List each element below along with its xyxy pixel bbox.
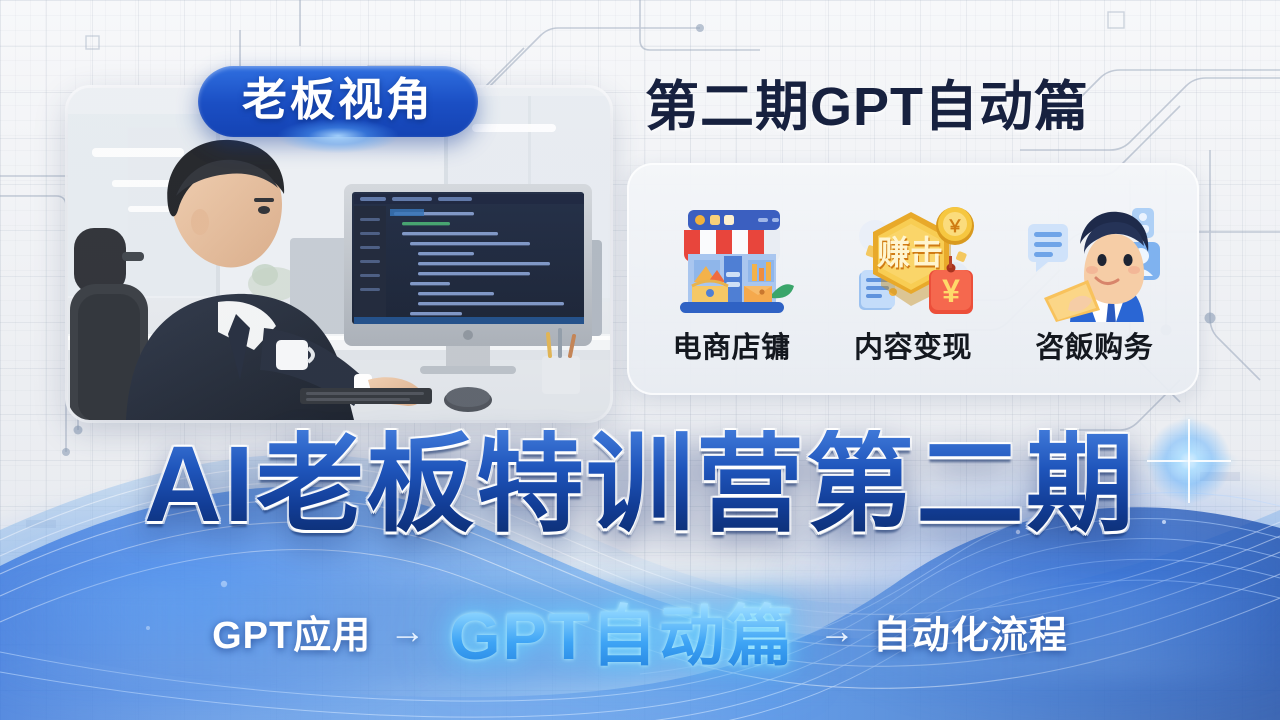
feature-item-consulting[interactable]: 咨飯购务 xyxy=(1008,194,1180,366)
feature-item-monetization[interactable]: 赚击 赚击 ￥ ¥ xyxy=(827,194,999,366)
strip-chip-automation: 自动化流程 xyxy=(873,604,1068,659)
arrow-right-icon-right: → xyxy=(819,613,855,649)
businessman-at-imac-photo xyxy=(68,88,610,420)
svg-text:￥: ￥ xyxy=(946,217,963,236)
feature-item-ecommerce[interactable]: 电商店镛 xyxy=(646,194,818,366)
strip-chip-gpt-app: GPT应用 xyxy=(212,604,371,659)
bottom-strip: GPT应用 → GPT自动篇 → 自动化流程 xyxy=(0,588,1280,674)
headline-subtitle: 第二期GPT自动篇 xyxy=(645,62,1089,141)
feature-label-consulting: 咨飯购务 xyxy=(1035,324,1153,366)
feature-card: 电商店镛 xyxy=(627,163,1199,395)
boss-view-badge[interactable]: 老板视角 xyxy=(198,66,478,137)
feature-label-ecommerce: 电商店镛 xyxy=(673,324,791,366)
storefront-icon xyxy=(664,194,800,322)
gold-hexagon-money-icon: 赚击 赚击 ￥ ¥ xyxy=(845,194,981,322)
feature-label-monetization: 内容变现 xyxy=(854,324,972,366)
arrow-right-icon-left: → xyxy=(389,613,425,649)
poster-root: 老板视角 第二期GPT自动篇 xyxy=(0,0,1280,720)
svg-text:¥: ¥ xyxy=(942,273,960,309)
consultant-person-icon xyxy=(1026,194,1162,322)
main-title: AI老板特训营第二期 xyxy=(0,430,1280,538)
svg-text:赚击: 赚击 xyxy=(877,234,943,271)
strip-neon-title: GPT自动篇 xyxy=(443,583,801,679)
boss-view-badge-label: 老板视角 xyxy=(242,76,434,123)
